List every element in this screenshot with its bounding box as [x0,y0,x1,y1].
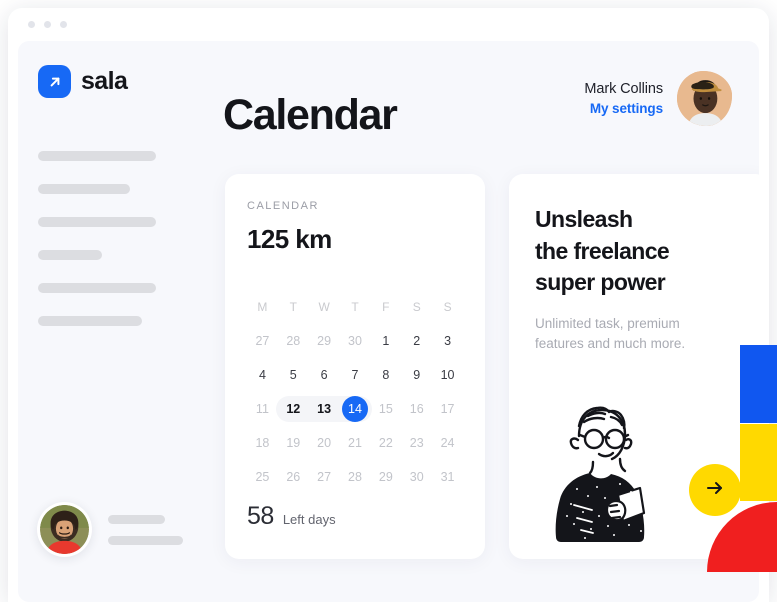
brand-logo[interactable]: sala [38,65,127,98]
arrow-right-icon [705,480,725,501]
calendar-day-28[interactable]: 28 [342,464,368,490]
calendar-day-21[interactable]: 21 [342,430,368,456]
arrow-up-right-icon [38,65,71,98]
my-settings-link[interactable]: My settings [584,101,663,116]
promo-heading: Unsleashthe freelancesuper power [535,204,743,299]
calendar-day-11[interactable]: 11 [249,396,275,422]
promo-heading-line-3: super power [535,267,743,299]
calendar-day-15[interactable]: 15 [373,396,399,422]
calendar-weekday-6: S [444,294,452,320]
promo-heading-line-1: Unsleash [535,204,743,236]
calendar-card-footer: 58 Left days [247,502,336,531]
calendar-day-1[interactable]: 1 [373,328,399,354]
browser-window: sala [8,8,769,602]
calendar-day-29[interactable]: 29 [311,328,337,354]
calendar-day-26[interactable]: 26 [280,464,306,490]
sidebar-nav-item-6[interactable] [38,316,142,326]
calendar-day-3[interactable]: 3 [435,328,461,354]
account-name: Mark Collins [584,81,663,97]
sidebar-user-placeholder [108,515,183,545]
sidebar-user-line-1 [108,515,165,524]
window-titlebar [8,8,769,41]
sidebar-nav-item-1[interactable] [38,151,156,161]
promo-subtitle-line-1: Unlimited task, premium [535,314,743,334]
calendar-day-10[interactable]: 10 [435,362,461,388]
left-days-count: 58 [247,502,274,531]
calendar-day-27[interactable]: 27 [311,464,337,490]
promo-heading-line-2: the freelance [535,236,743,268]
calendar-day-14[interactable]: 14 [342,396,368,422]
brand-name: sala [81,67,127,96]
calendar-day-6[interactable]: 6 [311,362,337,388]
screenshot-root: sala [0,0,777,602]
calendar-day-25[interactable]: 25 [249,464,275,490]
decoration-block-yellow [740,424,777,501]
promo-card: Unsleashthe freelancesuper power Unlimit… [509,174,759,559]
close-dot[interactable] [28,21,35,28]
sidebar: sala [18,41,212,602]
calendar-day-16[interactable]: 16 [404,396,430,422]
promo-subtitle: Unlimited task, premiumfeatures and much… [535,314,743,353]
account-summary[interactable]: Mark Collins My settings [584,71,732,126]
maximize-dot[interactable] [60,21,67,28]
minimize-dot[interactable] [44,21,51,28]
avatar [37,502,92,557]
account-avatar-photo[interactable] [677,71,732,126]
calendar-day-29[interactable]: 29 [373,464,399,490]
sidebar-nav-item-5[interactable] [38,283,156,293]
calendar-card: CALENDAR 125 km MTWTFSS27282930123456789… [225,174,485,559]
calendar-day-13[interactable]: 13 [311,396,337,422]
calendar-card-eyebrow: CALENDAR [247,200,463,212]
calendar-day-20[interactable]: 20 [311,430,337,456]
sidebar-user-line-2 [108,536,183,545]
calendar-day-30[interactable]: 30 [342,328,368,354]
calendar-day-5[interactable]: 5 [280,362,306,388]
calendar-weekday-5: S [413,294,421,320]
calendar-card-metric: 125 km [247,224,463,255]
sidebar-user[interactable] [37,502,183,557]
calendar-day-30[interactable]: 30 [404,464,430,490]
calendar-weekday-1: T [290,294,297,320]
sidebar-nav-placeholder [38,151,188,349]
app-body: sala [18,41,759,602]
sidebar-nav-item-4[interactable] [38,250,102,260]
calendar-day-22[interactable]: 22 [373,430,399,456]
calendar-day-23[interactable]: 23 [404,430,430,456]
calendar-day-27[interactable]: 27 [249,328,275,354]
calendar-day-18[interactable]: 18 [249,430,275,456]
calendar-weekday-4: F [382,294,389,320]
promo-subtitle-line-2: features and much more. [535,334,743,354]
calendar-day-4[interactable]: 4 [249,362,275,388]
calendar-day-17[interactable]: 17 [435,396,461,422]
calendar-day-19[interactable]: 19 [280,430,306,456]
decoration-block-blue [740,345,777,423]
user-avatar-photo [40,505,89,554]
person-reading-illustration [541,392,661,547]
calendar-day-7[interactable]: 7 [342,362,368,388]
calendar-weekday-3: T [351,294,358,320]
sidebar-nav-item-2[interactable] [38,184,130,194]
account-text: Mark Collins My settings [584,81,663,116]
calendar-day-2[interactable]: 2 [404,328,430,354]
calendar-grid[interactable]: MTWTFSS272829301234567891011121314151617… [247,294,463,490]
calendar-weekday-2: W [318,294,329,320]
left-days-label: Left days [283,512,336,527]
calendar-day-24[interactable]: 24 [435,430,461,456]
promo-cta-button[interactable] [689,464,741,516]
sidebar-nav-item-3[interactable] [38,217,156,227]
calendar-day-28[interactable]: 28 [280,328,306,354]
calendar-day-31[interactable]: 31 [435,464,461,490]
page-title: Calendar [223,91,397,140]
calendar-day-9[interactable]: 9 [404,362,430,388]
calendar-day-8[interactable]: 8 [373,362,399,388]
calendar-weekday-0: M [257,294,267,320]
